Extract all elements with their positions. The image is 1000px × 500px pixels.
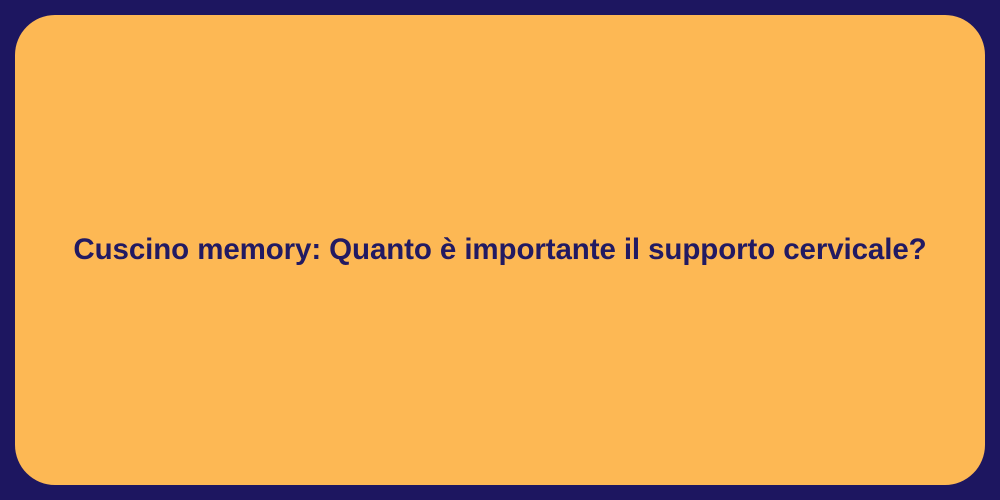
banner-root: Cuscino memory: Quanto è importante il s…	[0, 0, 1000, 500]
page-title: Cuscino memory: Quanto è importante il s…	[49, 232, 951, 269]
content-card: Cuscino memory: Quanto è importante il s…	[15, 15, 985, 485]
